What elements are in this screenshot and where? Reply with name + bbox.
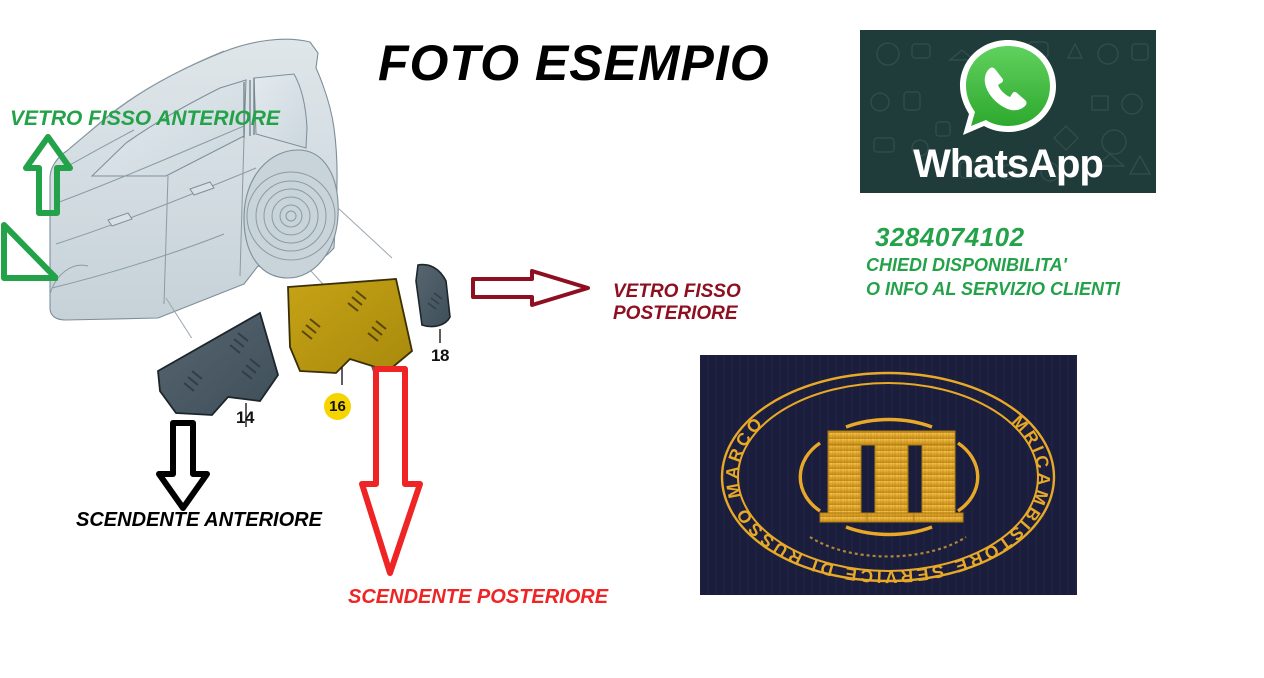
whatsapp-banner: WhatsApp: [860, 30, 1156, 193]
label-vetro-fisso-posteriore-line2: POSTERIORE: [613, 303, 741, 325]
arrow-up-green-icon: [22, 134, 74, 216]
label-scendente-anteriore: SCENDENTE ANTERIORE: [76, 509, 322, 533]
part-number-18: 18: [431, 346, 449, 366]
page-title: FOTO ESEMPIO: [378, 34, 770, 92]
phone-number[interactable]: 3284074102: [875, 222, 1120, 253]
contact-line-2: O INFO AL SERVIZIO CLIENTI: [866, 277, 1120, 301]
part-number-14: 14: [236, 408, 254, 428]
contact-block: 3284074102 CHIEDI DISPONIBILITA' O INFO …: [866, 222, 1120, 302]
triangle-green-icon: [0, 222, 58, 284]
whatsapp-wordmark: WhatsApp: [860, 142, 1156, 187]
part-number-16-badge: 16: [324, 393, 351, 420]
arrow-right-darkred-icon: [470, 268, 592, 308]
label-vetro-fisso-posteriore-line1: VETRO FISSO: [613, 281, 741, 303]
label-scendente-posteriore: SCENDENTE POSTERIORE: [348, 586, 608, 610]
arrow-down-red-icon: [358, 366, 424, 578]
contact-line-1: CHIEDI DISPONIBILITA': [866, 253, 1120, 277]
whatsapp-phone-icon: [955, 36, 1061, 142]
company-logo: MRICAMBISTORE SERVICE DI RUSSO MARCO: [700, 355, 1077, 595]
label-vetro-fisso-anteriore: VETRO FISSO ANTERIORE: [10, 107, 280, 132]
label-vetro-fisso-posteriore: VETRO FISSO POSTERIORE: [613, 281, 741, 326]
arrow-down-black-icon: [155, 420, 211, 512]
